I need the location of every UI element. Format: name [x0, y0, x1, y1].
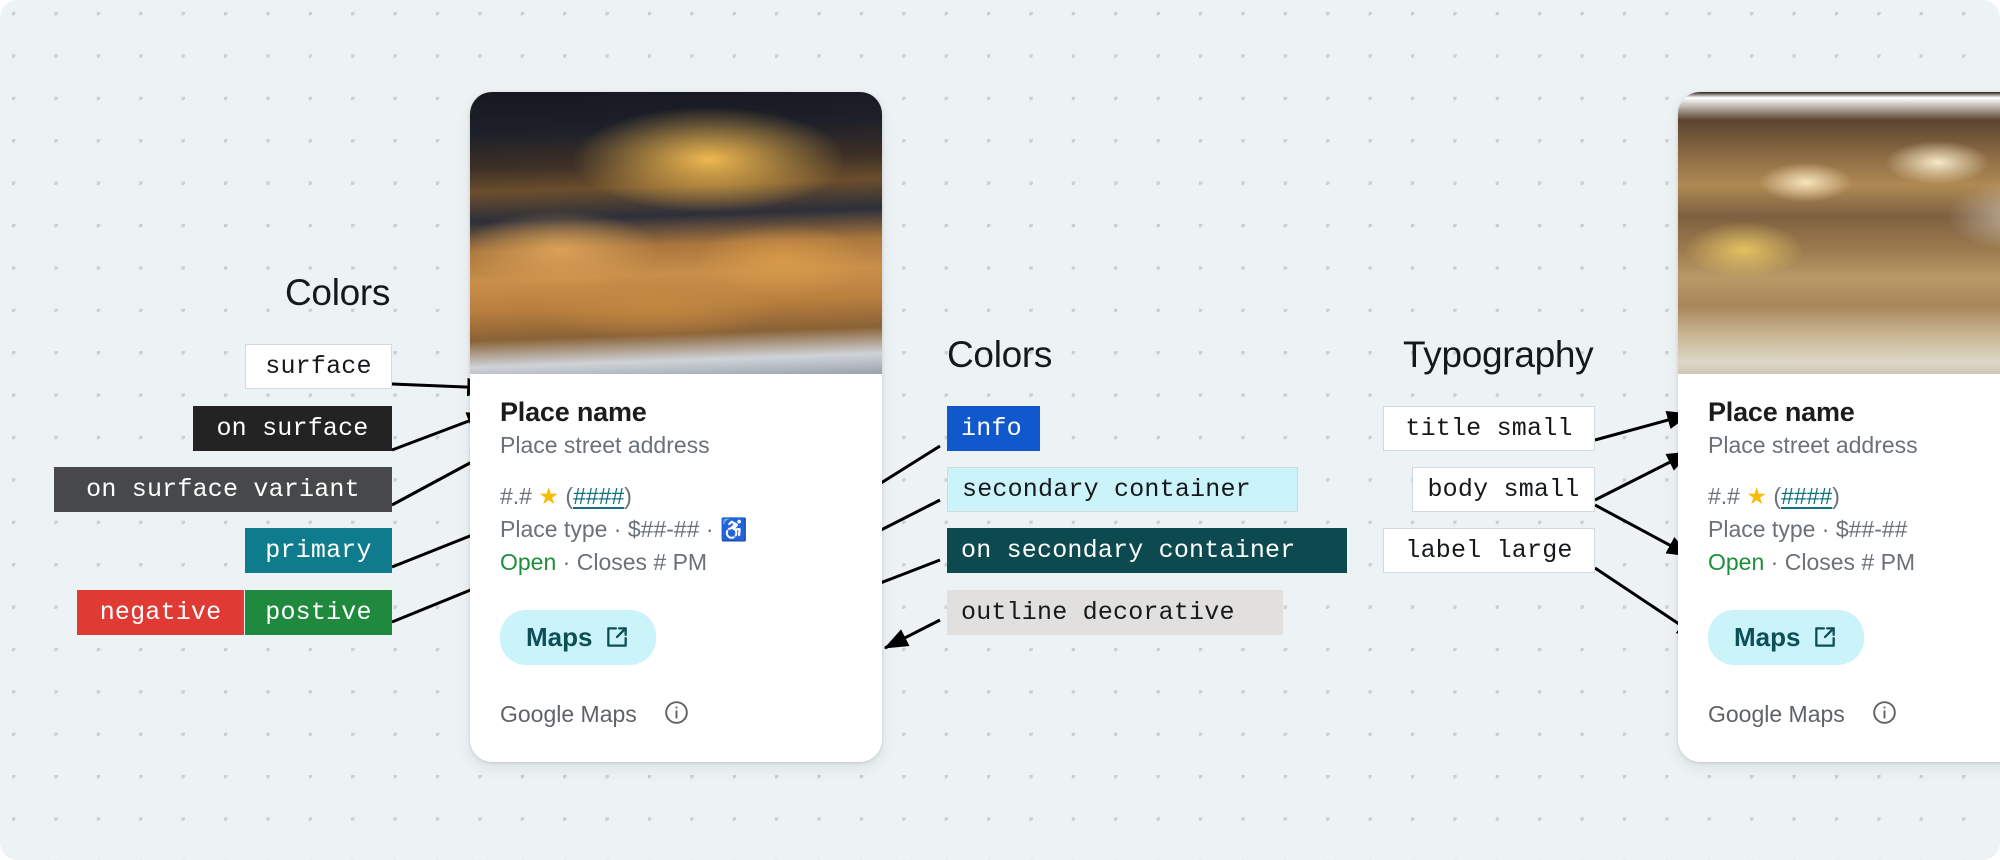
wheelchair-accessible-icon: ♿ — [720, 517, 747, 542]
info-icon[interactable] — [663, 699, 690, 731]
maps-button[interactable]: Maps — [1708, 610, 1864, 665]
place-address: Place street address — [1708, 429, 2000, 462]
status-closes: Closes # PM — [1785, 549, 1915, 575]
rating-count-close: ) — [1832, 483, 1840, 509]
place-meta: #.# ★ (####) Place type · $##-## · ♿ Ope… — [500, 480, 852, 580]
place-card-footer: Google Maps — [470, 665, 882, 757]
color-token-positive[interactable]: postive — [245, 590, 392, 635]
color-token-surface[interactable]: surface — [245, 344, 392, 389]
section-title-colors-left: Colors — [285, 272, 390, 314]
maps-button-label: Maps — [526, 622, 592, 653]
footer-provider-label: Google Maps — [1708, 701, 1845, 728]
color-token-on-surface-variant[interactable]: on surface variant — [54, 467, 392, 512]
status-open: Open — [1708, 549, 1764, 575]
arrow-body-small-bottom — [1595, 505, 1690, 556]
color-token-label: secondary container — [962, 467, 1251, 512]
place-name: Place name — [1708, 396, 2000, 429]
rating-count-open: ( — [565, 483, 573, 509]
place-photo-bakery — [470, 92, 882, 374]
place-name: Place name — [500, 396, 852, 429]
place-photo-cafe — [1678, 92, 2000, 374]
star-icon: ★ — [1746, 483, 1767, 509]
color-token-label: postive — [265, 590, 371, 635]
info-icon[interactable] — [1871, 699, 1898, 731]
place-rating-line: #.# ★ (####) — [1708, 480, 2000, 513]
color-token-negative[interactable]: negative — [77, 590, 244, 635]
separator-dot: · — [614, 516, 622, 542]
section-title-colors-middle: Colors — [947, 334, 1052, 376]
star-icon: ★ — [538, 483, 559, 509]
place-card-footer: Google Maps — [1678, 665, 2000, 757]
typography-token-label-large[interactable]: label large — [1383, 528, 1595, 573]
price-range: $##-## — [628, 516, 700, 542]
rating-value: #.# — [1708, 483, 1740, 509]
separator-dot: · — [706, 516, 714, 542]
color-token-primary[interactable]: primary — [245, 528, 392, 573]
place-type-line: Place type · $##-## · ♿ — [500, 513, 852, 546]
status-closes: Closes # PM — [577, 549, 707, 575]
separator-dot: · — [1822, 516, 1830, 542]
typography-token-label: label large — [1405, 528, 1572, 573]
arrow-title-small — [1595, 414, 1690, 440]
external-link-icon — [1812, 624, 1838, 650]
color-token-label: info — [961, 406, 1022, 451]
place-meta: #.# ★ (####) Place type · $##-## Open · … — [1708, 480, 2000, 580]
external-link-icon — [604, 624, 630, 650]
maps-button[interactable]: Maps — [500, 610, 656, 665]
separator-dot: · — [563, 549, 571, 575]
maps-button-label: Maps — [1734, 622, 1800, 653]
color-token-label: on surface — [216, 406, 368, 451]
place-hours-line: Open · Closes # PM — [500, 546, 852, 579]
color-token-info[interactable]: info — [947, 406, 1040, 451]
place-type: Place type — [500, 516, 607, 542]
place-address: Place street address — [500, 429, 852, 462]
price-range: $##-## — [1836, 516, 1908, 542]
color-token-label: outline decorative — [961, 590, 1235, 635]
color-token-label: on surface variant — [86, 467, 360, 512]
place-rating-line: #.# ★ (####) — [500, 480, 852, 513]
color-token-label: negative — [100, 590, 222, 635]
color-token-label: primary — [265, 528, 371, 573]
section-title-typography: Typography — [1403, 334, 1593, 376]
footer-provider-label: Google Maps — [500, 701, 637, 728]
typography-token-label: title small — [1405, 406, 1572, 451]
color-token-on-secondary-container[interactable]: on secondary container — [947, 528, 1347, 573]
place-card-center[interactable]: Place name Place street address #.# ★ (#… — [470, 92, 882, 762]
color-token-outline-decorative[interactable]: outline decorative — [947, 590, 1283, 635]
rating-count-link[interactable]: #### — [573, 483, 624, 509]
rating-count-close: ) — [624, 483, 632, 509]
place-type: Place type — [1708, 516, 1815, 542]
place-card-right[interactable]: Place name Place street address #.# ★ (#… — [1678, 92, 2000, 762]
separator-dot: · — [1771, 549, 1779, 575]
color-token-on-surface[interactable]: on surface — [193, 406, 392, 451]
arrow-body-small-top — [1595, 452, 1690, 500]
place-type-line: Place type · $##-## — [1708, 513, 2000, 546]
typography-token-label: body small — [1427, 467, 1579, 512]
rating-count-link[interactable]: #### — [1781, 483, 1832, 509]
rating-value: #.# — [500, 483, 532, 509]
place-card-body: Place name Place street address #.# ★ (#… — [470, 374, 882, 665]
color-token-label: on secondary container — [961, 528, 1295, 573]
typography-token-title-small[interactable]: title small — [1383, 406, 1595, 451]
place-hours-line: Open · Closes # PM — [1708, 546, 2000, 579]
color-token-secondary-container[interactable]: secondary container — [947, 467, 1298, 512]
status-open: Open — [500, 549, 556, 575]
typography-token-body-small[interactable]: body small — [1412, 467, 1595, 512]
arrow-outline-decorative — [885, 620, 940, 648]
rating-count-open: ( — [1773, 483, 1781, 509]
design-annotation-board: Colors surface on surface on surface var… — [0, 0, 2000, 860]
place-card-body: Place name Place street address #.# ★ (#… — [1678, 374, 2000, 665]
color-token-label: surface — [265, 344, 371, 389]
